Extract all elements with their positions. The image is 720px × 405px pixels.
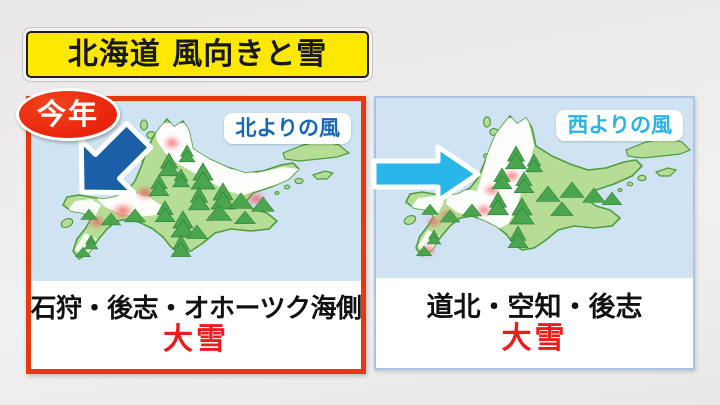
region-text-right: 道北・空知・後志	[427, 293, 643, 322]
alert-text-right: 大雪	[502, 323, 568, 355]
page-title: 北海道 風向きと雪	[68, 40, 327, 70]
this-year-badge: 今年	[16, 88, 120, 141]
wind-label-right: 西よりの風	[556, 110, 683, 141]
caption-left: 石狩・後志・オホーツク海側 大雪	[31, 281, 361, 369]
wind-label-left: 北よりの風	[224, 113, 351, 144]
page-title-banner: 北海道 風向きと雪	[26, 31, 369, 78]
this-year-badge-label: 今年	[37, 100, 99, 129]
panel-typical-year: 西よりの風 道北・空知・後志 大雪	[374, 96, 695, 370]
alert-text-left: 大雪	[163, 324, 229, 356]
arrow-east-icon	[372, 143, 482, 205]
region-text-left: 石狩・後志・オホーツク海側	[31, 295, 362, 323]
caption-right: 道北・空知・後志 大雪	[376, 280, 693, 368]
